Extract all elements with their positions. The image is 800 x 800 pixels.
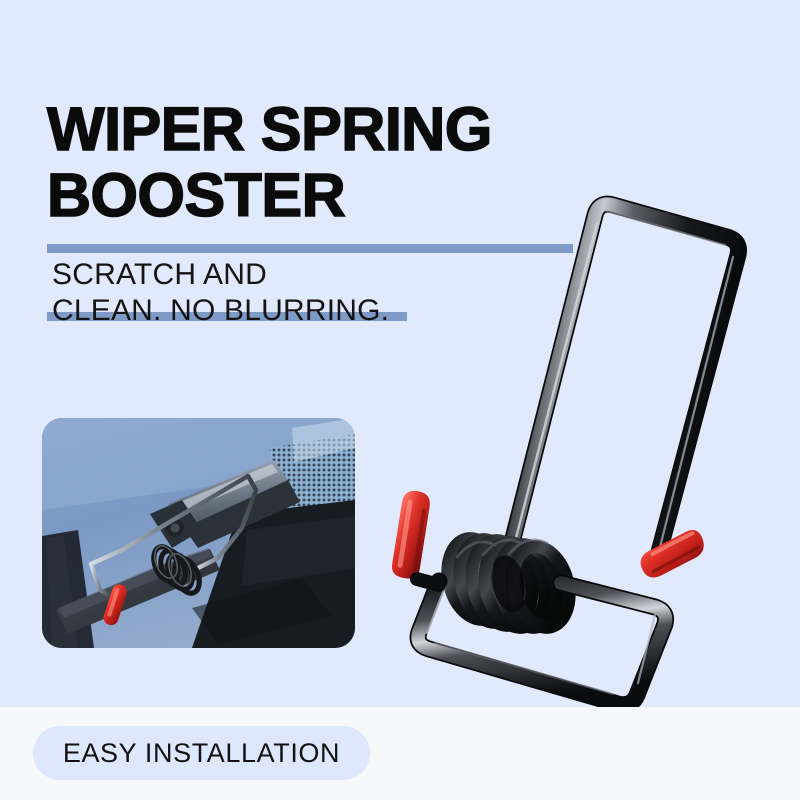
easy-installation-pill: EASY INSTALLATION [33, 726, 370, 780]
inset-photo-artwork [42, 418, 355, 648]
easy-installation-label: EASY INSTALLATION [63, 738, 340, 769]
inset-installation-photo [42, 418, 355, 648]
product-artwork [355, 175, 775, 715]
product-poster: WIPER SPRING BOOSTER SCRATCH AND CLEAN. … [0, 0, 800, 800]
footer-band: EASY INSTALLATION [0, 707, 800, 800]
product-hero-image [355, 175, 775, 715]
headline-line-1: WIPER SPRING [47, 96, 647, 162]
